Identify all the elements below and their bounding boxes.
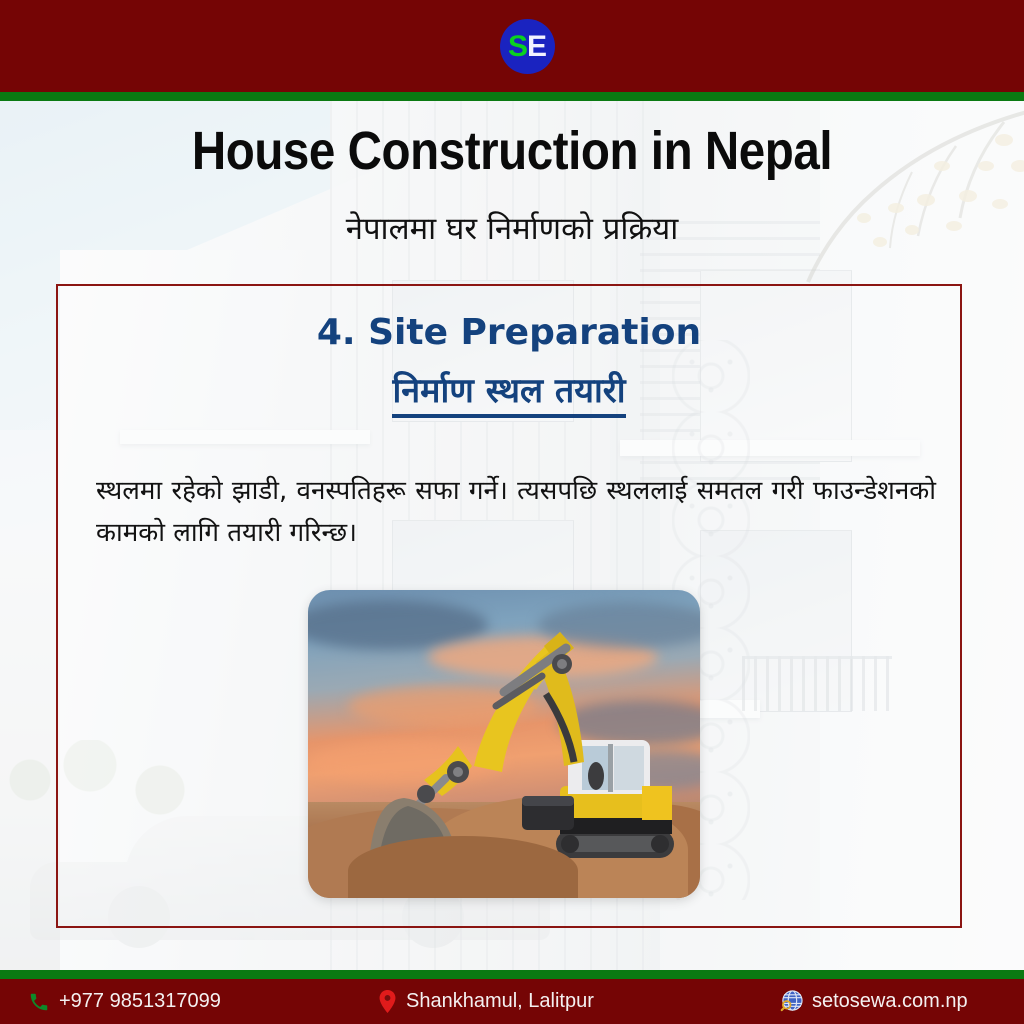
footer-phone-text: +977 9851317099	[59, 990, 221, 1013]
soil-mound-4	[348, 836, 578, 898]
footer-website[interactable]: setosewa.com.np	[780, 979, 968, 1024]
logo-letter-e: E	[527, 32, 547, 62]
phone-icon	[28, 991, 50, 1013]
top-green-stripe	[0, 92, 1024, 101]
footer-location-text: Shankhamul, Lalitpur	[406, 990, 594, 1013]
footer-location[interactable]: Shankhamul, Lalitpur	[378, 979, 594, 1024]
section-heading-nepali-text: निर्माण स्थल तयारी	[392, 371, 625, 418]
page-title: House Construction in Nepal	[61, 120, 962, 182]
page-subtitle: नेपालमा घर निर्माणको प्रक्रिया	[0, 207, 1024, 249]
globe-icon	[780, 990, 803, 1013]
section-heading-nepali: निर्माण स्थल तयारी	[56, 366, 962, 412]
location-pin-icon	[378, 990, 397, 1013]
section-heading-english: 4. Site Preparation	[56, 312, 962, 353]
excavator-photo	[308, 590, 700, 898]
footer-green-stripe	[0, 970, 1024, 979]
footer-website-text: setosewa.com.np	[812, 990, 968, 1013]
section-body-text: स्थलमा रहेको झाडी, वनस्पतिहरू सफा गर्ने।…	[96, 470, 936, 554]
footer-phone[interactable]: +977 9851317099	[28, 979, 221, 1024]
poster-canvas: S E House Construction in Nepal नेपालमा …	[0, 0, 1024, 1024]
brand-logo[interactable]: S E	[500, 19, 555, 74]
logo-letter-s: S	[508, 32, 527, 62]
